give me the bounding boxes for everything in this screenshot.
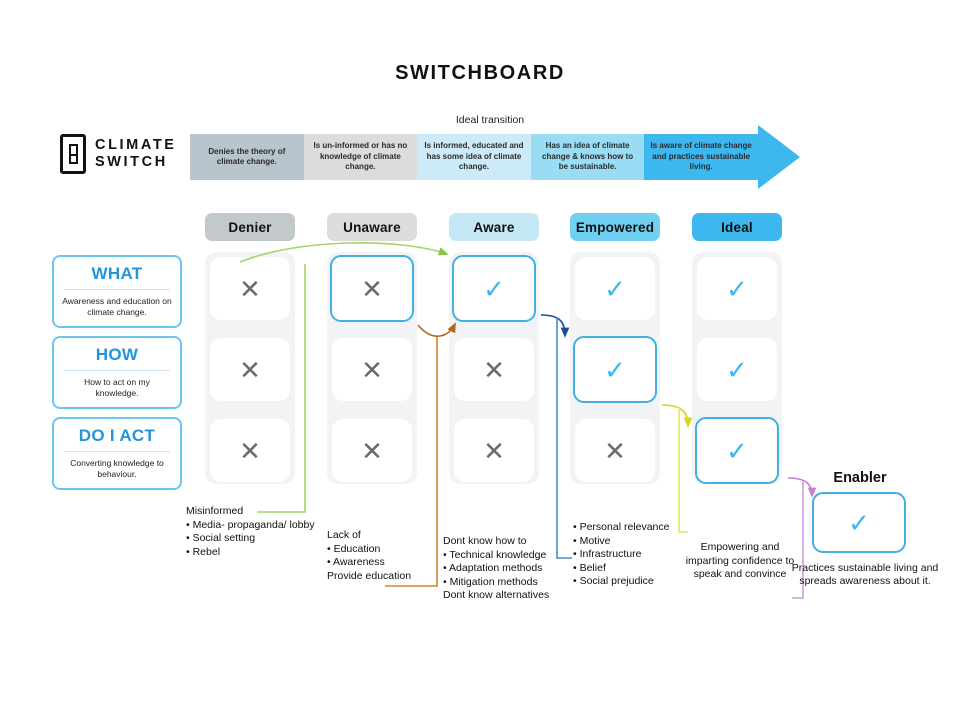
- cell-how-empowered[interactable]: ✓: [573, 336, 657, 403]
- row-card-subtitle: How to act on my knowledge.: [54, 371, 180, 407]
- enabler-note: Practices sustainable living and spreads…: [790, 562, 940, 588]
- note-aware: Dont know how to• Technical knowledge• A…: [443, 535, 575, 603]
- band-segment-1: Is un-informed or has no knowledge of cl…: [304, 134, 418, 180]
- cell-do-i-act-unaware[interactable]: ✕: [332, 419, 412, 482]
- row-card-title: DO I ACT: [54, 419, 180, 451]
- row-card-title: WHAT: [54, 257, 180, 289]
- row-card-subtitle: Awareness and education on climate chang…: [54, 290, 180, 326]
- check-icon: ✓: [483, 276, 505, 302]
- column-header-unaware[interactable]: Unaware: [327, 213, 417, 241]
- column-header-denier[interactable]: Denier: [205, 213, 295, 241]
- x-icon: ✕: [483, 357, 505, 383]
- column-header-empowered[interactable]: Empowered: [570, 213, 660, 241]
- check-icon: ✓: [726, 357, 748, 383]
- cell-what-ideal[interactable]: ✓: [697, 257, 777, 320]
- note-ideal: Empowering and imparting confidence to s…: [684, 541, 796, 582]
- x-icon: ✕: [604, 438, 626, 464]
- cell-what-denier[interactable]: ✕: [210, 257, 290, 320]
- enabler-title: Enabler: [800, 470, 920, 486]
- connector-navy-arc: [541, 315, 565, 336]
- x-icon: ✕: [483, 438, 505, 464]
- check-icon: ✓: [604, 276, 626, 302]
- light-switch-icon: [60, 134, 86, 174]
- cell-how-ideal[interactable]: ✓: [697, 338, 777, 401]
- band-segment-4: Is aware of climate change and practices…: [644, 134, 758, 180]
- row-card-subtitle: Converting knowledge to behaviour.: [54, 452, 180, 488]
- brand-text: CLIMATE SWITCH: [95, 137, 177, 171]
- cell-do-i-act-denier[interactable]: ✕: [210, 419, 290, 482]
- check-icon: ✓: [604, 357, 626, 383]
- cell-do-i-act-ideal[interactable]: ✓: [695, 417, 779, 484]
- row-card-what[interactable]: WHATAwareness and education on climate c…: [52, 255, 182, 328]
- page-title: SWITCHBOARD: [0, 62, 960, 85]
- x-icon: ✕: [239, 357, 261, 383]
- row-card-how[interactable]: HOWHow to act on my knowledge.: [52, 336, 182, 409]
- switchboard-diagram: SWITCHBOARD CLIMATE SWITCH Ideal transit…: [0, 0, 960, 720]
- band-segment-2: Is informed, educated and has some idea …: [417, 134, 531, 180]
- note-unaware: Lack of• Education• AwarenessProvide edu…: [327, 529, 437, 583]
- brand-logo: CLIMATE SWITCH: [60, 134, 177, 174]
- x-icon: ✕: [239, 276, 261, 302]
- x-icon: ✕: [361, 438, 383, 464]
- check-icon: ✓: [848, 510, 870, 536]
- connector-yellow-arc: [662, 405, 688, 426]
- note-denier: Misinformed• Media- propaganda/ lobby• S…: [186, 505, 316, 559]
- check-icon: ✓: [726, 438, 748, 464]
- band-segment-3: Has an idea of climate change & knows ho…: [531, 134, 645, 180]
- cell-how-denier[interactable]: ✕: [210, 338, 290, 401]
- ideal-transition-label: Ideal transition: [390, 114, 590, 126]
- cell-how-aware[interactable]: ✕: [454, 338, 534, 401]
- cell-what-unaware[interactable]: ✕: [330, 255, 414, 322]
- note-empowered: • Personal relevance• Motive• Infrastruc…: [573, 521, 688, 589]
- x-icon: ✕: [361, 357, 383, 383]
- brand-line-1: CLIMATE: [95, 137, 177, 154]
- cell-what-empowered[interactable]: ✓: [575, 257, 655, 320]
- cell-how-unaware[interactable]: ✕: [332, 338, 412, 401]
- band-arrow-head: [758, 125, 800, 189]
- check-icon: ✓: [726, 276, 748, 302]
- cell-do-i-act-empowered[interactable]: ✕: [575, 419, 655, 482]
- column-header-ideal[interactable]: Ideal: [692, 213, 782, 241]
- enabler-box[interactable]: ✓: [812, 492, 906, 553]
- transition-band: Denies the theory of climate change.Is u…: [190, 134, 800, 180]
- row-card-do-i-act[interactable]: DO I ACTConverting knowledge to behaviou…: [52, 417, 182, 490]
- cell-do-i-act-aware[interactable]: ✕: [454, 419, 534, 482]
- cell-what-aware[interactable]: ✓: [452, 255, 536, 322]
- brand-line-2: SWITCH: [95, 154, 177, 171]
- connector-yellow-vertical: [679, 408, 688, 532]
- band-segment-0: Denies the theory of climate change.: [190, 134, 304, 180]
- column-header-aware[interactable]: Aware: [449, 213, 539, 241]
- x-icon: ✕: [239, 438, 261, 464]
- row-card-title: HOW: [54, 338, 180, 370]
- x-icon: ✕: [361, 276, 383, 302]
